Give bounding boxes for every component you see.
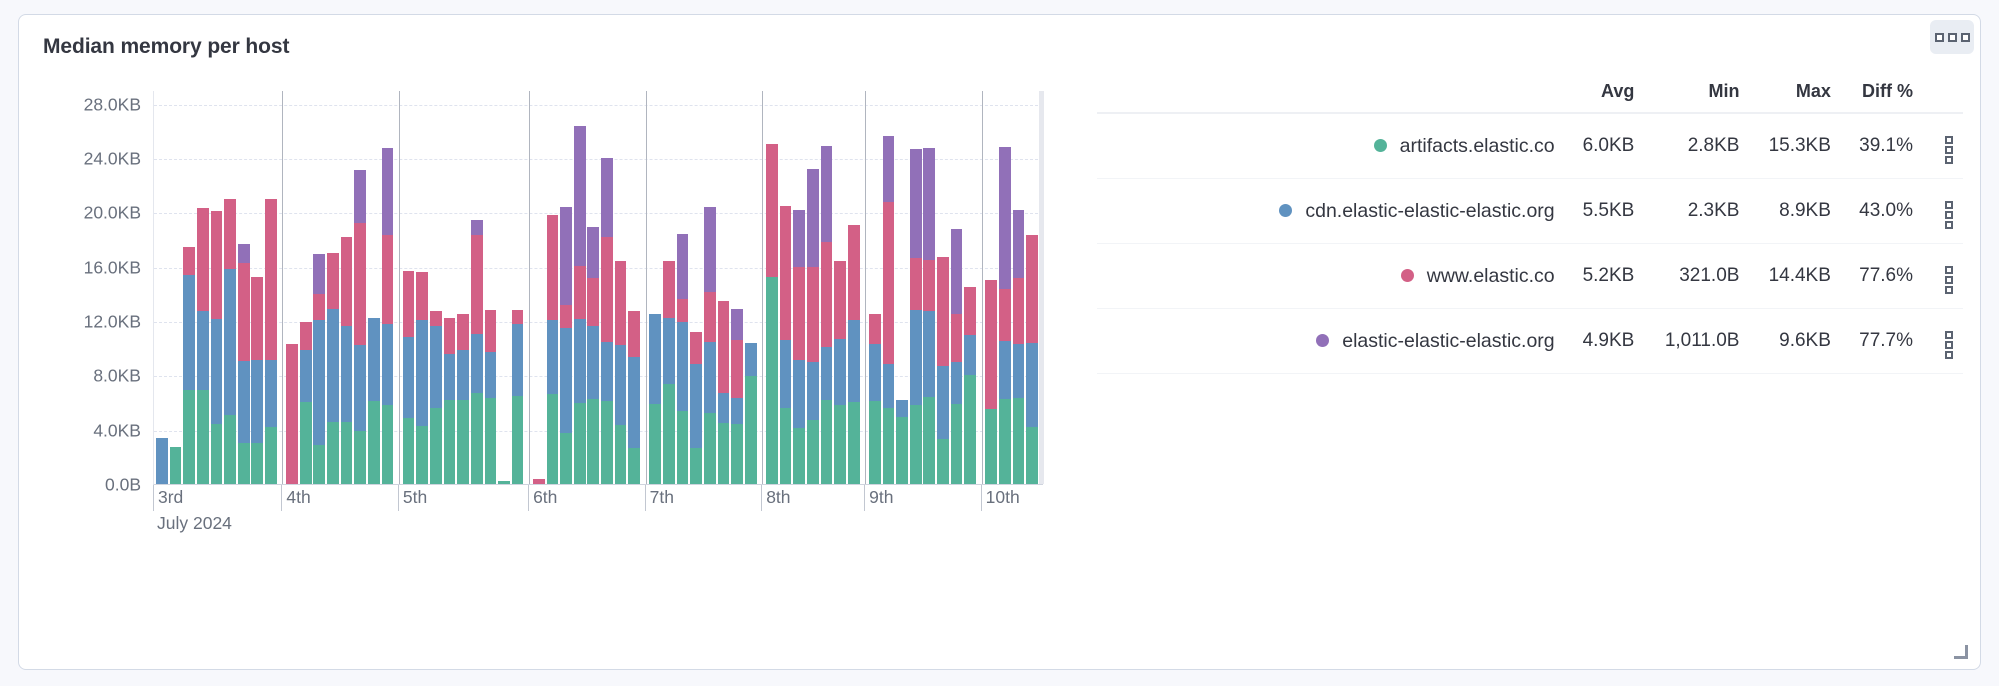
table-row[interactable]: elastic-elastic-elastic.org4.9KB1,011.0B… bbox=[1097, 309, 1963, 374]
legend-header-avg[interactable]: Avg bbox=[1565, 77, 1645, 113]
x-axis-tick-label: 7th bbox=[645, 485, 674, 511]
bar-stack[interactable] bbox=[951, 229, 963, 484]
bar-segment[interactable] bbox=[183, 390, 195, 484]
bar-segment[interactable] bbox=[883, 408, 895, 484]
day-separator bbox=[646, 91, 647, 484]
bar-segment[interactable] bbox=[821, 146, 833, 242]
bar-segment[interactable] bbox=[574, 126, 586, 266]
bar-segment[interactable] bbox=[745, 343, 757, 376]
bar-segment[interactable] bbox=[649, 314, 661, 404]
bar-segment[interactable] bbox=[485, 398, 497, 484]
bar-segment[interactable] bbox=[807, 362, 819, 420]
bar-segment[interactable] bbox=[848, 225, 860, 320]
bar-segment[interactable] bbox=[690, 332, 702, 364]
bar-segment[interactable] bbox=[238, 443, 250, 484]
bar-stack[interactable] bbox=[286, 344, 298, 484]
legend-header-diff[interactable]: Diff % bbox=[1841, 77, 1923, 113]
bar-stack[interactable] bbox=[848, 225, 860, 484]
bar-segment[interactable] bbox=[485, 310, 497, 351]
bar-segment[interactable] bbox=[718, 301, 730, 393]
bar-segment[interactable] bbox=[587, 326, 599, 399]
bar-segment[interactable] bbox=[512, 310, 524, 324]
bar-stack[interactable] bbox=[964, 287, 976, 484]
drag-handle-icon[interactable] bbox=[1923, 179, 1963, 244]
day-separator bbox=[529, 91, 530, 484]
bar-stack[interactable] bbox=[677, 234, 689, 484]
bar-segment[interactable] bbox=[170, 447, 182, 484]
bar-segment[interactable] bbox=[964, 335, 976, 375]
bar-segment[interactable] bbox=[574, 266, 586, 319]
bar-stack[interactable] bbox=[354, 170, 366, 484]
bar-segment[interactable] bbox=[923, 260, 935, 311]
bar-segment[interactable] bbox=[807, 267, 819, 362]
bar-segment[interactable] bbox=[677, 299, 689, 322]
bar-segment[interactable] bbox=[313, 320, 325, 445]
bar-segment[interactable] bbox=[368, 401, 380, 484]
bar-segment[interactable] bbox=[156, 438, 168, 484]
bar-segment[interactable] bbox=[382, 235, 394, 323]
table-row[interactable]: www.elastic.co5.2KB321.0B14.4KB77.6% bbox=[1097, 244, 1963, 309]
y-axis-tick-label: 24.0KB bbox=[84, 148, 141, 169]
bar-stack[interactable] bbox=[937, 257, 949, 484]
bar-stack[interactable] bbox=[793, 210, 805, 484]
bar-stack[interactable] bbox=[601, 158, 613, 484]
bar-segment[interactable] bbox=[848, 320, 860, 403]
legend-min-value: 321.0B bbox=[1644, 244, 1749, 309]
bar-segment[interactable] bbox=[547, 394, 559, 484]
bar-segment[interactable] bbox=[937, 257, 949, 366]
legend-series-name[interactable]: artifacts.elastic.co bbox=[1097, 113, 1565, 179]
bar-segment[interactable] bbox=[444, 400, 456, 484]
bar-stack[interactable] bbox=[416, 272, 428, 484]
bar-segment[interactable] bbox=[766, 144, 778, 277]
legend-diff-value: 77.7% bbox=[1841, 309, 1923, 374]
bar-segment[interactable] bbox=[999, 289, 1011, 341]
bar-segment[interactable] bbox=[471, 235, 483, 334]
bar-segment[interactable] bbox=[457, 314, 469, 349]
bar-segment[interactable] bbox=[677, 411, 689, 484]
drag-handle-icon[interactable] bbox=[1923, 113, 1963, 179]
bar-segment[interactable] bbox=[300, 350, 312, 402]
bar-segment[interactable] bbox=[821, 242, 833, 347]
bar-segment[interactable] bbox=[793, 210, 805, 267]
bar-stack[interactable] bbox=[704, 207, 716, 484]
bar-segment[interactable] bbox=[368, 318, 380, 402]
bar-segment[interactable] bbox=[807, 169, 819, 267]
bar-segment[interactable] bbox=[547, 320, 559, 395]
bar-segment[interactable] bbox=[663, 384, 675, 484]
bar-stack[interactable] bbox=[547, 215, 559, 484]
bar-stack[interactable] bbox=[834, 261, 846, 484]
bar-segment[interactable] bbox=[574, 403, 586, 484]
bar-segment[interactable] bbox=[197, 208, 209, 311]
bar-segment[interactable] bbox=[937, 439, 949, 484]
bar-stack[interactable] bbox=[731, 309, 743, 484]
bar-segment[interactable] bbox=[999, 399, 1011, 484]
bar-segment[interactable] bbox=[951, 314, 963, 363]
bar-segment[interactable] bbox=[471, 220, 483, 236]
bar-segment[interactable] bbox=[601, 158, 613, 237]
day-separator bbox=[865, 91, 866, 484]
bar-segment[interactable] bbox=[251, 277, 263, 361]
bar-segment[interactable] bbox=[430, 326, 442, 408]
bar-stack[interactable] bbox=[211, 211, 223, 484]
bar-stack[interactable] bbox=[807, 169, 819, 484]
bar-segment[interactable] bbox=[615, 261, 627, 345]
bar-segment[interactable] bbox=[354, 223, 366, 345]
bar-segment[interactable] bbox=[649, 404, 661, 484]
bar-segment[interactable] bbox=[834, 405, 846, 484]
bar-segment[interactable] bbox=[512, 324, 524, 397]
bar-stack[interactable] bbox=[430, 311, 442, 484]
bar-segment[interactable] bbox=[444, 354, 456, 400]
bar-segment[interactable] bbox=[601, 401, 613, 484]
bar-segment[interactable] bbox=[354, 431, 366, 484]
bar-segment[interactable] bbox=[951, 229, 963, 313]
bar-segment[interactable] bbox=[690, 364, 702, 448]
x-axis-tick-label: 9th bbox=[864, 485, 893, 511]
bar-stack[interactable] bbox=[444, 318, 456, 484]
bar-segment[interactable] bbox=[677, 234, 689, 299]
bar-stack[interactable] bbox=[224, 199, 236, 484]
bar-segment[interactable] bbox=[883, 136, 895, 203]
legend-max-value: 14.4KB bbox=[1749, 244, 1840, 309]
bar-segment[interactable] bbox=[780, 408, 792, 484]
bar-segment[interactable] bbox=[601, 237, 613, 342]
bar-segment[interactable] bbox=[615, 345, 627, 425]
legend-series-name[interactable]: www.elastic.co bbox=[1097, 244, 1565, 309]
bar-stack[interactable] bbox=[1026, 235, 1038, 484]
bar-segment[interactable] bbox=[704, 342, 716, 413]
bar-stack[interactable] bbox=[587, 227, 599, 484]
bar-segment[interactable] bbox=[265, 427, 277, 484]
bar-segment[interactable] bbox=[896, 417, 908, 484]
bar-segment[interactable] bbox=[704, 413, 716, 484]
bar-segment[interactable] bbox=[704, 292, 716, 342]
bar-stack[interactable] bbox=[265, 199, 277, 484]
legend-diff-value: 77.6% bbox=[1841, 244, 1923, 309]
bar-stack[interactable] bbox=[663, 261, 675, 484]
bar-segment[interactable] bbox=[766, 277, 778, 484]
bar-segment[interactable] bbox=[587, 227, 599, 279]
bar-segment[interactable] bbox=[923, 397, 935, 484]
bar-segment[interactable] bbox=[1026, 235, 1038, 342]
bar-stack[interactable] bbox=[628, 311, 640, 484]
bar-segment[interactable] bbox=[663, 261, 675, 318]
bar-stack[interactable] bbox=[327, 253, 339, 484]
day-separator bbox=[282, 91, 283, 484]
bar-segment[interactable] bbox=[628, 311, 640, 357]
bar-chart[interactable]: 0.0B4.0KB8.0KB12.0KB16.0KB20.0KB24.0KB28… bbox=[43, 73, 1073, 543]
bar-segment[interactable] bbox=[745, 376, 757, 484]
legend-header-max[interactable]: Max bbox=[1749, 77, 1840, 113]
bar-segment[interactable] bbox=[512, 396, 524, 484]
bar-segment[interactable] bbox=[869, 344, 881, 401]
bar-segment[interactable] bbox=[547, 215, 559, 320]
bar-segment[interactable] bbox=[628, 448, 640, 484]
bar-segment[interactable] bbox=[403, 337, 415, 419]
bar-stack[interactable] bbox=[156, 438, 168, 484]
bar-stack[interactable] bbox=[512, 310, 524, 484]
bar-stack[interactable] bbox=[1013, 210, 1025, 484]
bar-segment[interactable] bbox=[183, 275, 195, 390]
bar-stack[interactable] bbox=[170, 447, 182, 484]
bar-segment[interactable] bbox=[251, 443, 263, 484]
day-separator bbox=[982, 91, 983, 484]
bar-stack[interactable] bbox=[457, 314, 469, 484]
bar-segment[interactable] bbox=[780, 206, 792, 341]
bar-segment[interactable] bbox=[327, 253, 339, 309]
bar-segment[interactable] bbox=[793, 428, 805, 484]
bar-segment[interactable] bbox=[587, 278, 599, 326]
bar-segment[interactable] bbox=[416, 320, 428, 427]
bar-segment[interactable] bbox=[300, 322, 312, 351]
bar-segment[interactable] bbox=[834, 261, 846, 340]
bar-segment[interactable] bbox=[382, 324, 394, 406]
bar-segment[interactable] bbox=[211, 424, 223, 484]
bar-segment[interactable] bbox=[560, 328, 572, 433]
bar-segment[interactable] bbox=[211, 211, 223, 319]
bar-stack[interactable] bbox=[341, 237, 353, 484]
bar-stack[interactable] bbox=[766, 144, 778, 484]
bar-stack[interactable] bbox=[382, 148, 394, 484]
bar-segment[interactable] bbox=[382, 148, 394, 236]
bar-segment[interactable] bbox=[951, 362, 963, 403]
bar-segment[interactable] bbox=[883, 202, 895, 364]
bar-stack[interactable] bbox=[498, 481, 510, 484]
bar-segment[interactable] bbox=[731, 340, 743, 398]
bar-segment[interactable] bbox=[663, 318, 675, 384]
bar-segment[interactable] bbox=[690, 448, 702, 484]
bar-segment[interactable] bbox=[471, 334, 483, 393]
bar-segment[interactable] bbox=[238, 361, 250, 443]
bar-segment[interactable] bbox=[313, 445, 325, 484]
bar-segment[interactable] bbox=[910, 405, 922, 484]
table-row[interactable]: cdn.elastic-elastic-elastic.org5.5KB2.3K… bbox=[1097, 179, 1963, 244]
bar-stack[interactable] bbox=[999, 147, 1011, 484]
bar-segment[interactable] bbox=[224, 269, 236, 415]
x-axis-unit-label: July 2024 bbox=[157, 513, 232, 534]
bar-segment[interactable] bbox=[498, 481, 510, 484]
bar-segment[interactable] bbox=[403, 271, 415, 337]
bar-segment[interactable] bbox=[848, 402, 860, 484]
bar-segment[interactable] bbox=[403, 418, 415, 484]
bar-segment[interactable] bbox=[560, 207, 572, 306]
bar-segment[interactable] bbox=[251, 360, 263, 443]
bar-segment[interactable] bbox=[601, 342, 613, 401]
y-axis-tick-label: 16.0KB bbox=[84, 257, 141, 278]
bar-segment[interactable] bbox=[951, 404, 963, 484]
bar-stack[interactable] bbox=[821, 146, 833, 484]
resize-handle-icon[interactable] bbox=[1954, 645, 1968, 659]
bar-segment[interactable] bbox=[471, 393, 483, 484]
bar-segment[interactable] bbox=[985, 409, 997, 484]
bar-segment[interactable] bbox=[1026, 343, 1038, 427]
bar-segment[interactable] bbox=[457, 350, 469, 400]
series-color-swatch-icon bbox=[1316, 334, 1329, 347]
bar-segment[interactable] bbox=[238, 263, 250, 362]
bar-segment[interactable] bbox=[587, 399, 599, 484]
bar-segment[interactable] bbox=[910, 310, 922, 405]
bar-segment[interactable] bbox=[416, 272, 428, 320]
bar-segment[interactable] bbox=[999, 147, 1011, 289]
bar-segment[interactable] bbox=[937, 366, 949, 439]
bar-stack[interactable] bbox=[910, 149, 922, 484]
bar-segment[interactable] bbox=[238, 244, 250, 262]
bar-segment[interactable] bbox=[793, 360, 805, 429]
bar-segment[interactable] bbox=[923, 148, 935, 260]
bar-segment[interactable] bbox=[910, 149, 922, 258]
bar-segment[interactable] bbox=[224, 199, 236, 268]
bar-segment[interactable] bbox=[430, 311, 442, 327]
bar-segment[interactable] bbox=[821, 347, 833, 399]
bar-segment[interactable] bbox=[327, 309, 339, 422]
bar-stack[interactable] bbox=[560, 207, 572, 484]
bar-segment[interactable] bbox=[265, 360, 277, 427]
y-axis-tick-label: 8.0KB bbox=[93, 366, 141, 387]
bar-segment[interactable] bbox=[560, 433, 572, 484]
bar-segment[interactable] bbox=[1013, 278, 1025, 345]
bar-segment[interactable] bbox=[896, 400, 908, 418]
bar-segment[interactable] bbox=[341, 237, 353, 327]
bar-segment[interactable] bbox=[1013, 344, 1025, 398]
bar-segment[interactable] bbox=[313, 254, 325, 294]
bar-segment[interactable] bbox=[731, 398, 743, 424]
bar-stack[interactable] bbox=[745, 343, 757, 484]
table-row[interactable]: artifacts.elastic.co6.0KB2.8KB15.3KB39.1… bbox=[1097, 113, 1963, 179]
menu-dot bbox=[1948, 33, 1957, 42]
bar-stack[interactable] bbox=[649, 314, 661, 484]
bar-segment[interactable] bbox=[615, 425, 627, 484]
legend-avg-value: 5.5KB bbox=[1565, 179, 1645, 244]
legend-series-label: elastic-elastic-elastic.org bbox=[1342, 330, 1554, 352]
bar-segment[interactable] bbox=[313, 294, 325, 320]
bar-segment[interactable] bbox=[457, 400, 469, 484]
bar-segment[interactable] bbox=[869, 314, 881, 344]
bar-segment[interactable] bbox=[300, 402, 312, 484]
bar-segment[interactable] bbox=[327, 422, 339, 484]
bar-segment[interactable] bbox=[821, 400, 833, 484]
bar-stack[interactable] bbox=[869, 314, 881, 484]
bar-stack[interactable] bbox=[718, 301, 730, 484]
bar-segment[interactable] bbox=[341, 326, 353, 421]
bar-stack[interactable] bbox=[985, 280, 997, 484]
bar-stack[interactable] bbox=[300, 322, 312, 484]
bar-stack[interactable] bbox=[313, 254, 325, 484]
bar-segment[interactable] bbox=[718, 393, 730, 423]
bar-segment[interactable] bbox=[1013, 210, 1025, 278]
bar-segment[interactable] bbox=[869, 401, 881, 484]
bar-segment[interactable] bbox=[780, 340, 792, 408]
bar-segment[interactable] bbox=[964, 287, 976, 335]
bar-segment[interactable] bbox=[354, 345, 366, 431]
bar-stack[interactable] bbox=[883, 136, 895, 484]
x-axis-tick-label: 6th bbox=[528, 485, 557, 511]
bar-segment[interactable] bbox=[341, 422, 353, 484]
bar-segment[interactable] bbox=[999, 341, 1011, 399]
bar-segment[interactable] bbox=[354, 170, 366, 224]
bar-segment[interactable] bbox=[985, 280, 997, 409]
bar-segment[interactable] bbox=[382, 405, 394, 484]
day-separator bbox=[762, 91, 763, 484]
legend-series-name[interactable]: cdn.elastic-elastic-elastic.org bbox=[1097, 179, 1565, 244]
legend-avg-value: 5.2KB bbox=[1565, 244, 1645, 309]
bar-segment[interactable] bbox=[444, 318, 456, 354]
y-axis-tick-label: 28.0KB bbox=[84, 94, 141, 115]
bar-segment[interactable] bbox=[807, 420, 819, 484]
bar-segment[interactable] bbox=[731, 309, 743, 340]
bar-stack[interactable] bbox=[896, 400, 908, 484]
y-axis-tick-label: 20.0KB bbox=[84, 203, 141, 224]
bar-stack[interactable] bbox=[923, 148, 935, 484]
bar-segment[interactable] bbox=[731, 424, 743, 484]
bar-stack[interactable] bbox=[780, 206, 792, 485]
plot-area[interactable] bbox=[153, 91, 1043, 485]
legend-max-value: 8.9KB bbox=[1749, 179, 1840, 244]
bar-stack[interactable] bbox=[471, 220, 483, 484]
bar-stack[interactable] bbox=[615, 261, 627, 484]
bar-segment[interactable] bbox=[224, 415, 236, 484]
bar-segment[interactable] bbox=[211, 319, 223, 424]
bar-segment[interactable] bbox=[560, 305, 572, 328]
bar-segment[interactable] bbox=[485, 352, 497, 398]
x-axis-tick-label: 4th bbox=[281, 485, 310, 511]
bar-segment[interactable] bbox=[183, 247, 195, 275]
bar-segment[interactable] bbox=[265, 199, 277, 361]
bar-segment[interactable] bbox=[1026, 427, 1038, 484]
bar-stack[interactable] bbox=[251, 277, 263, 484]
bar-segment[interactable] bbox=[1013, 398, 1025, 484]
bar-stack[interactable] bbox=[574, 126, 586, 484]
menu-dot bbox=[1961, 33, 1970, 42]
bar-segment[interactable] bbox=[793, 267, 805, 359]
bar-stack[interactable] bbox=[690, 332, 702, 484]
bar-segment[interactable] bbox=[718, 423, 730, 484]
bar-stack[interactable] bbox=[183, 247, 195, 484]
bar-segment[interactable] bbox=[910, 258, 922, 310]
bar-segment[interactable] bbox=[964, 375, 976, 484]
bar-segment[interactable] bbox=[197, 390, 209, 484]
bar-segment[interactable] bbox=[533, 479, 545, 484]
bar-segment[interactable] bbox=[704, 207, 716, 293]
drag-handle-icon[interactable] bbox=[1923, 309, 1963, 374]
bar-segment[interactable] bbox=[286, 344, 298, 484]
y-axis-tick-label: 0.0B bbox=[105, 475, 141, 496]
bar-stack[interactable] bbox=[403, 271, 415, 484]
bar-stack[interactable] bbox=[533, 479, 545, 484]
bar-stack[interactable] bbox=[485, 310, 497, 484]
bar-stack[interactable] bbox=[368, 318, 380, 484]
bar-stack[interactable] bbox=[238, 244, 250, 484]
bar-segment[interactable] bbox=[677, 322, 689, 412]
legend-series-name[interactable]: elastic-elastic-elastic.org bbox=[1097, 309, 1565, 374]
legend-series-label: cdn.elastic-elastic-elastic.org bbox=[1305, 200, 1554, 222]
bar-segment[interactable] bbox=[923, 311, 935, 397]
bar-segment[interactable] bbox=[197, 311, 209, 390]
y-axis: 0.0B4.0KB8.0KB12.0KB16.0KB20.0KB24.0KB28… bbox=[43, 73, 149, 485]
bar-segment[interactable] bbox=[834, 339, 846, 404]
bar-stack[interactable] bbox=[197, 208, 209, 484]
legend-header-min[interactable]: Min bbox=[1644, 77, 1749, 113]
bar-segment[interactable] bbox=[628, 357, 640, 448]
bar-segment[interactable] bbox=[430, 408, 442, 484]
bar-segment[interactable] bbox=[883, 364, 895, 407]
drag-handle-icon[interactable] bbox=[1923, 244, 1963, 309]
bar-segment[interactable] bbox=[574, 319, 586, 403]
series-color-swatch-icon bbox=[1374, 139, 1387, 152]
context-menu-icon[interactable] bbox=[1930, 20, 1974, 54]
bar-segment[interactable] bbox=[416, 426, 428, 484]
